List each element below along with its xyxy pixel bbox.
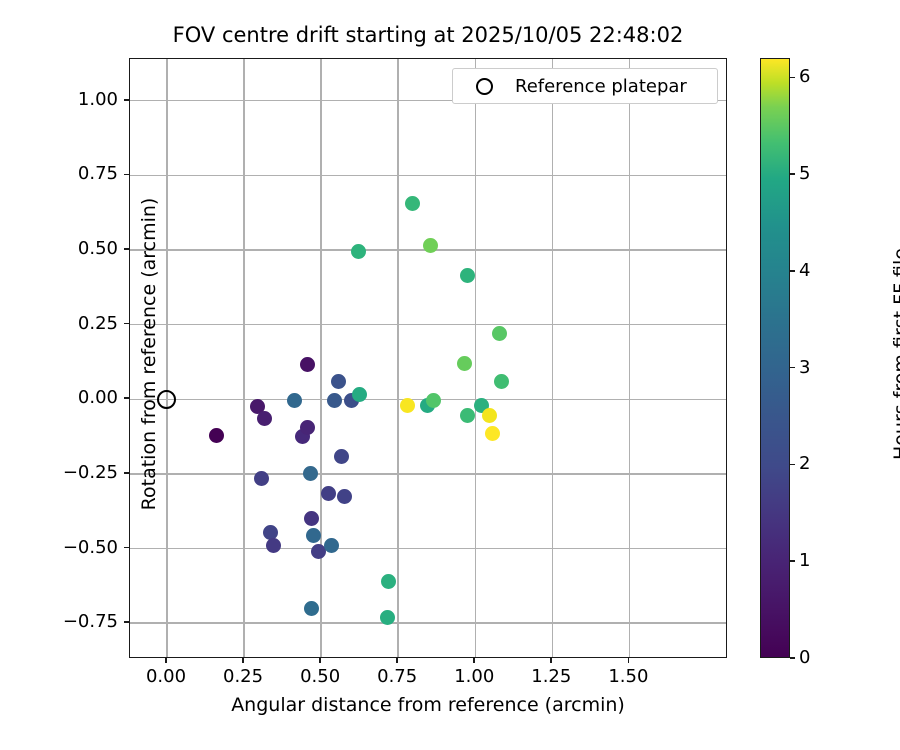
- reference-platepar-marker: [157, 390, 176, 409]
- scatter-point: [287, 393, 302, 408]
- scatter-point: [460, 268, 475, 283]
- scatter-point: [351, 244, 366, 259]
- scatter-point: [254, 471, 269, 486]
- x-axis-tick: [319, 658, 321, 663]
- legend[interactable]: Reference platepar: [452, 68, 718, 104]
- scatter-point: [304, 511, 319, 526]
- scatter-point: [423, 238, 438, 253]
- x-axis-tick: [550, 658, 552, 663]
- scatter-point: [400, 398, 415, 413]
- scatter-point: [426, 393, 441, 408]
- x-axis-tick: [473, 658, 475, 663]
- y-axis-tick: [124, 323, 129, 325]
- scatter-point: [460, 408, 475, 423]
- scatter-point: [380, 610, 395, 625]
- x-axis-tick-label: 0.50: [280, 666, 360, 688]
- y-axis-tick-label: −0.75: [34, 611, 118, 633]
- plot-area: [129, 58, 727, 658]
- y-axis-tick-label: −0.50: [34, 537, 118, 559]
- y-axis-tick: [124, 174, 129, 176]
- scatter-point: [306, 528, 321, 543]
- y-axis-tick: [124, 621, 129, 623]
- scatter-point: [304, 601, 319, 616]
- scatter-point: [321, 486, 336, 501]
- scatter-points-layer: [130, 59, 726, 657]
- x-axis-tick-label: 0.25: [203, 666, 283, 688]
- colorbar: [760, 58, 790, 658]
- y-axis-tick-label: 0.00: [34, 387, 118, 409]
- colorbar-tick-label: 2: [799, 453, 810, 475]
- x-axis-tick-label: 1.25: [511, 666, 591, 688]
- x-axis-tick-label: 0.00: [126, 666, 206, 688]
- scatter-point: [405, 196, 420, 211]
- x-axis-tick: [242, 658, 244, 663]
- y-axis-tick-label: 0.75: [34, 163, 118, 185]
- y-axis-tick: [124, 547, 129, 549]
- colorbar-label: Hours from first FF file: [890, 54, 900, 654]
- y-axis-tick: [124, 99, 129, 101]
- scatter-point: [300, 420, 315, 435]
- colorbar-tick-label: 1: [799, 550, 810, 572]
- scatter-point: [381, 574, 396, 589]
- x-axis-label: Angular distance from reference (arcmin): [129, 694, 727, 716]
- scatter-point: [331, 374, 346, 389]
- x-axis-tick: [628, 658, 630, 663]
- legend-label: Reference platepar: [515, 76, 687, 97]
- y-axis-tick-label: 0.25: [34, 313, 118, 335]
- y-axis-label: Rotation from reference (arcmin): [138, 54, 160, 654]
- x-axis-tick-label: 1.00: [434, 666, 514, 688]
- colorbar-tick-label: 5: [799, 163, 810, 185]
- y-axis-tick-label: 0.50: [34, 238, 118, 260]
- figure-canvas: FOV centre drift starting at 2025/10/05 …: [0, 0, 900, 750]
- scatter-point: [457, 356, 472, 371]
- colorbar-tick: [790, 560, 795, 562]
- y-axis-tick: [124, 472, 129, 474]
- scatter-point: [311, 544, 326, 559]
- scatter-point: [492, 326, 507, 341]
- y-axis-tick-label: 1.00: [34, 89, 118, 111]
- x-axis-tick-label: 1.50: [588, 666, 668, 688]
- scatter-point: [257, 411, 272, 426]
- page-title: FOV centre drift starting at 2025/10/05 …: [129, 22, 727, 48]
- scatter-point: [303, 466, 318, 481]
- legend-marker-wrap: [453, 78, 515, 95]
- colorbar-tick: [790, 367, 795, 369]
- colorbar-tick: [790, 657, 795, 659]
- colorbar-tick-label: 0: [799, 647, 810, 669]
- colorbar-tick: [790, 464, 795, 466]
- colorbar-tick: [790, 270, 795, 272]
- scatter-point: [352, 387, 367, 402]
- scatter-point: [209, 428, 224, 443]
- x-axis-tick: [396, 658, 398, 663]
- scatter-point: [334, 449, 349, 464]
- scatter-point: [482, 408, 497, 423]
- scatter-point: [337, 489, 352, 504]
- colorbar-tick: [790, 173, 795, 175]
- scatter-point: [324, 538, 339, 553]
- scatter-point: [485, 426, 500, 441]
- open-circle-icon: [476, 78, 493, 95]
- scatter-point: [327, 393, 342, 408]
- colorbar-tick-label: 4: [799, 260, 810, 282]
- y-axis-tick-label: −0.25: [34, 462, 118, 484]
- scatter-point: [266, 538, 281, 553]
- y-axis-tick: [124, 397, 129, 399]
- colorbar-tick-label: 6: [799, 66, 810, 88]
- colorbar-tick-label: 3: [799, 357, 810, 379]
- scatter-point: [494, 374, 509, 389]
- scatter-point: [300, 357, 315, 372]
- y-axis-tick: [124, 248, 129, 250]
- x-axis-tick-label: 0.75: [357, 666, 437, 688]
- x-axis-tick: [165, 658, 167, 663]
- colorbar-tick: [790, 77, 795, 79]
